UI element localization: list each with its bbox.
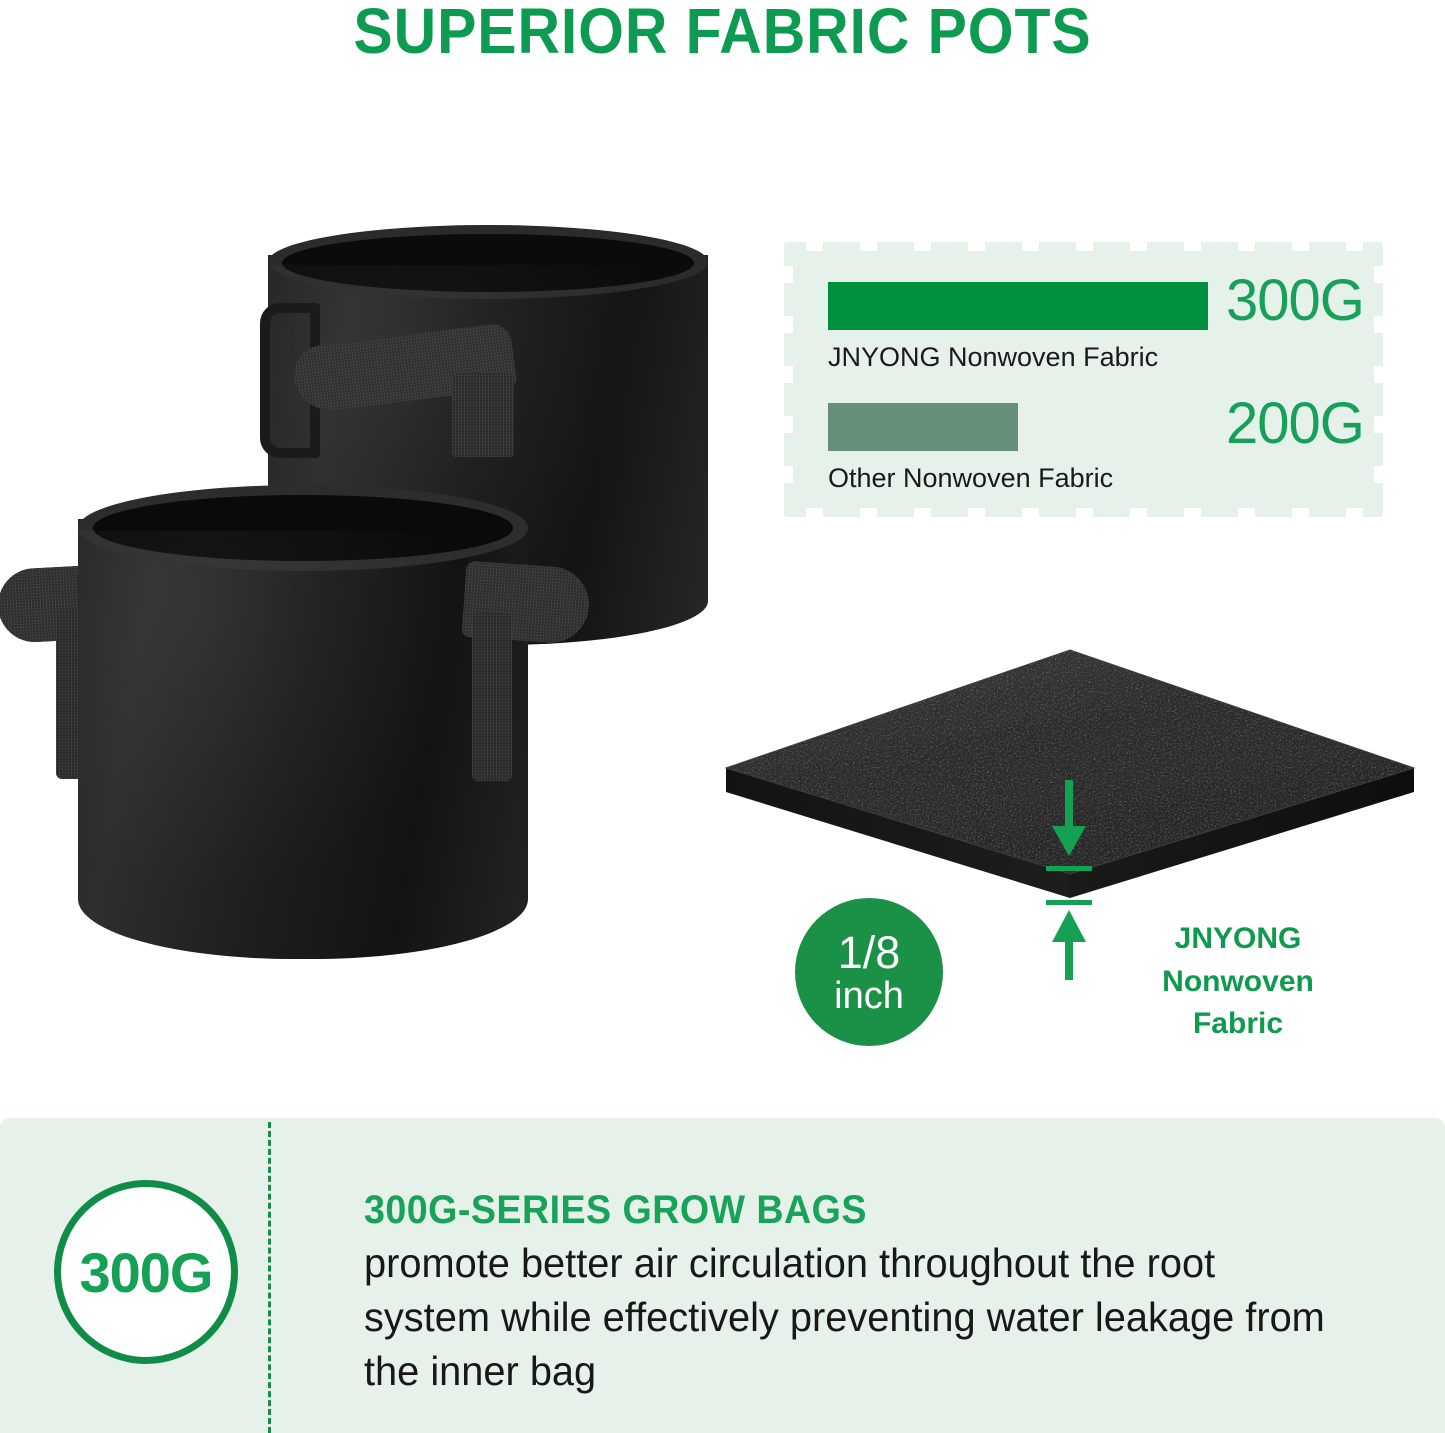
bar-value-300g: 300G <box>1226 272 1364 330</box>
banner-badge-label: 300G <box>80 1240 213 1305</box>
banner-body-text: promote better air circulation throughou… <box>364 1236 1344 1398</box>
tick-top <box>1046 866 1092 871</box>
fabric-caption: JNYONG Nonwoven Fabric <box>1113 918 1363 1046</box>
product-photo <box>0 200 730 1030</box>
bar-label-other: Other Nonwoven Fabric <box>828 465 1113 492</box>
thickness-fraction: 1/8 <box>838 930 901 975</box>
handle-leg <box>472 613 512 781</box>
bag-handle-strap <box>294 335 514 457</box>
thickness-dimension-arrows <box>1010 780 1130 980</box>
bar-label-jnyong: JNYONG Nonwoven Fabric <box>828 344 1158 371</box>
arrow-up-icon <box>1052 910 1086 980</box>
arrow-down-icon <box>1052 780 1086 856</box>
fabric-caption-line-1: JNYONG <box>1113 918 1363 961</box>
bar-value-200g: 200G <box>1226 395 1364 453</box>
fabric-weight-comparison-panel: 300G JNYONG Nonwoven Fabric 200G Other N… <box>790 248 1387 510</box>
thickness-badge: 1/8 inch <box>795 898 943 1046</box>
bar-other-200g <box>828 403 1018 451</box>
fabric-caption-line-2: Nonwoven <box>1113 961 1363 1004</box>
banner-dashed-divider <box>268 1122 271 1433</box>
banner-heading: 300G-SERIES GROW BAGS <box>364 1188 867 1233</box>
bar-jnyong-300g <box>828 282 1208 330</box>
strap-tail <box>452 373 514 457</box>
banner-300g-badge: 300G <box>54 1180 238 1364</box>
tick-bottom <box>1046 900 1092 905</box>
fabric-thickness-diagram: 1/8 inch JNYONG Nonwoven Fabric <box>720 640 1420 1070</box>
page-title: SUPERIOR FABRIC POTS <box>58 0 1387 65</box>
thickness-unit: inch <box>834 977 904 1015</box>
front-grow-bag <box>78 485 528 985</box>
bag-handle-right <box>456 565 616 783</box>
fabric-caption-line-3: Fabric <box>1113 1003 1363 1046</box>
